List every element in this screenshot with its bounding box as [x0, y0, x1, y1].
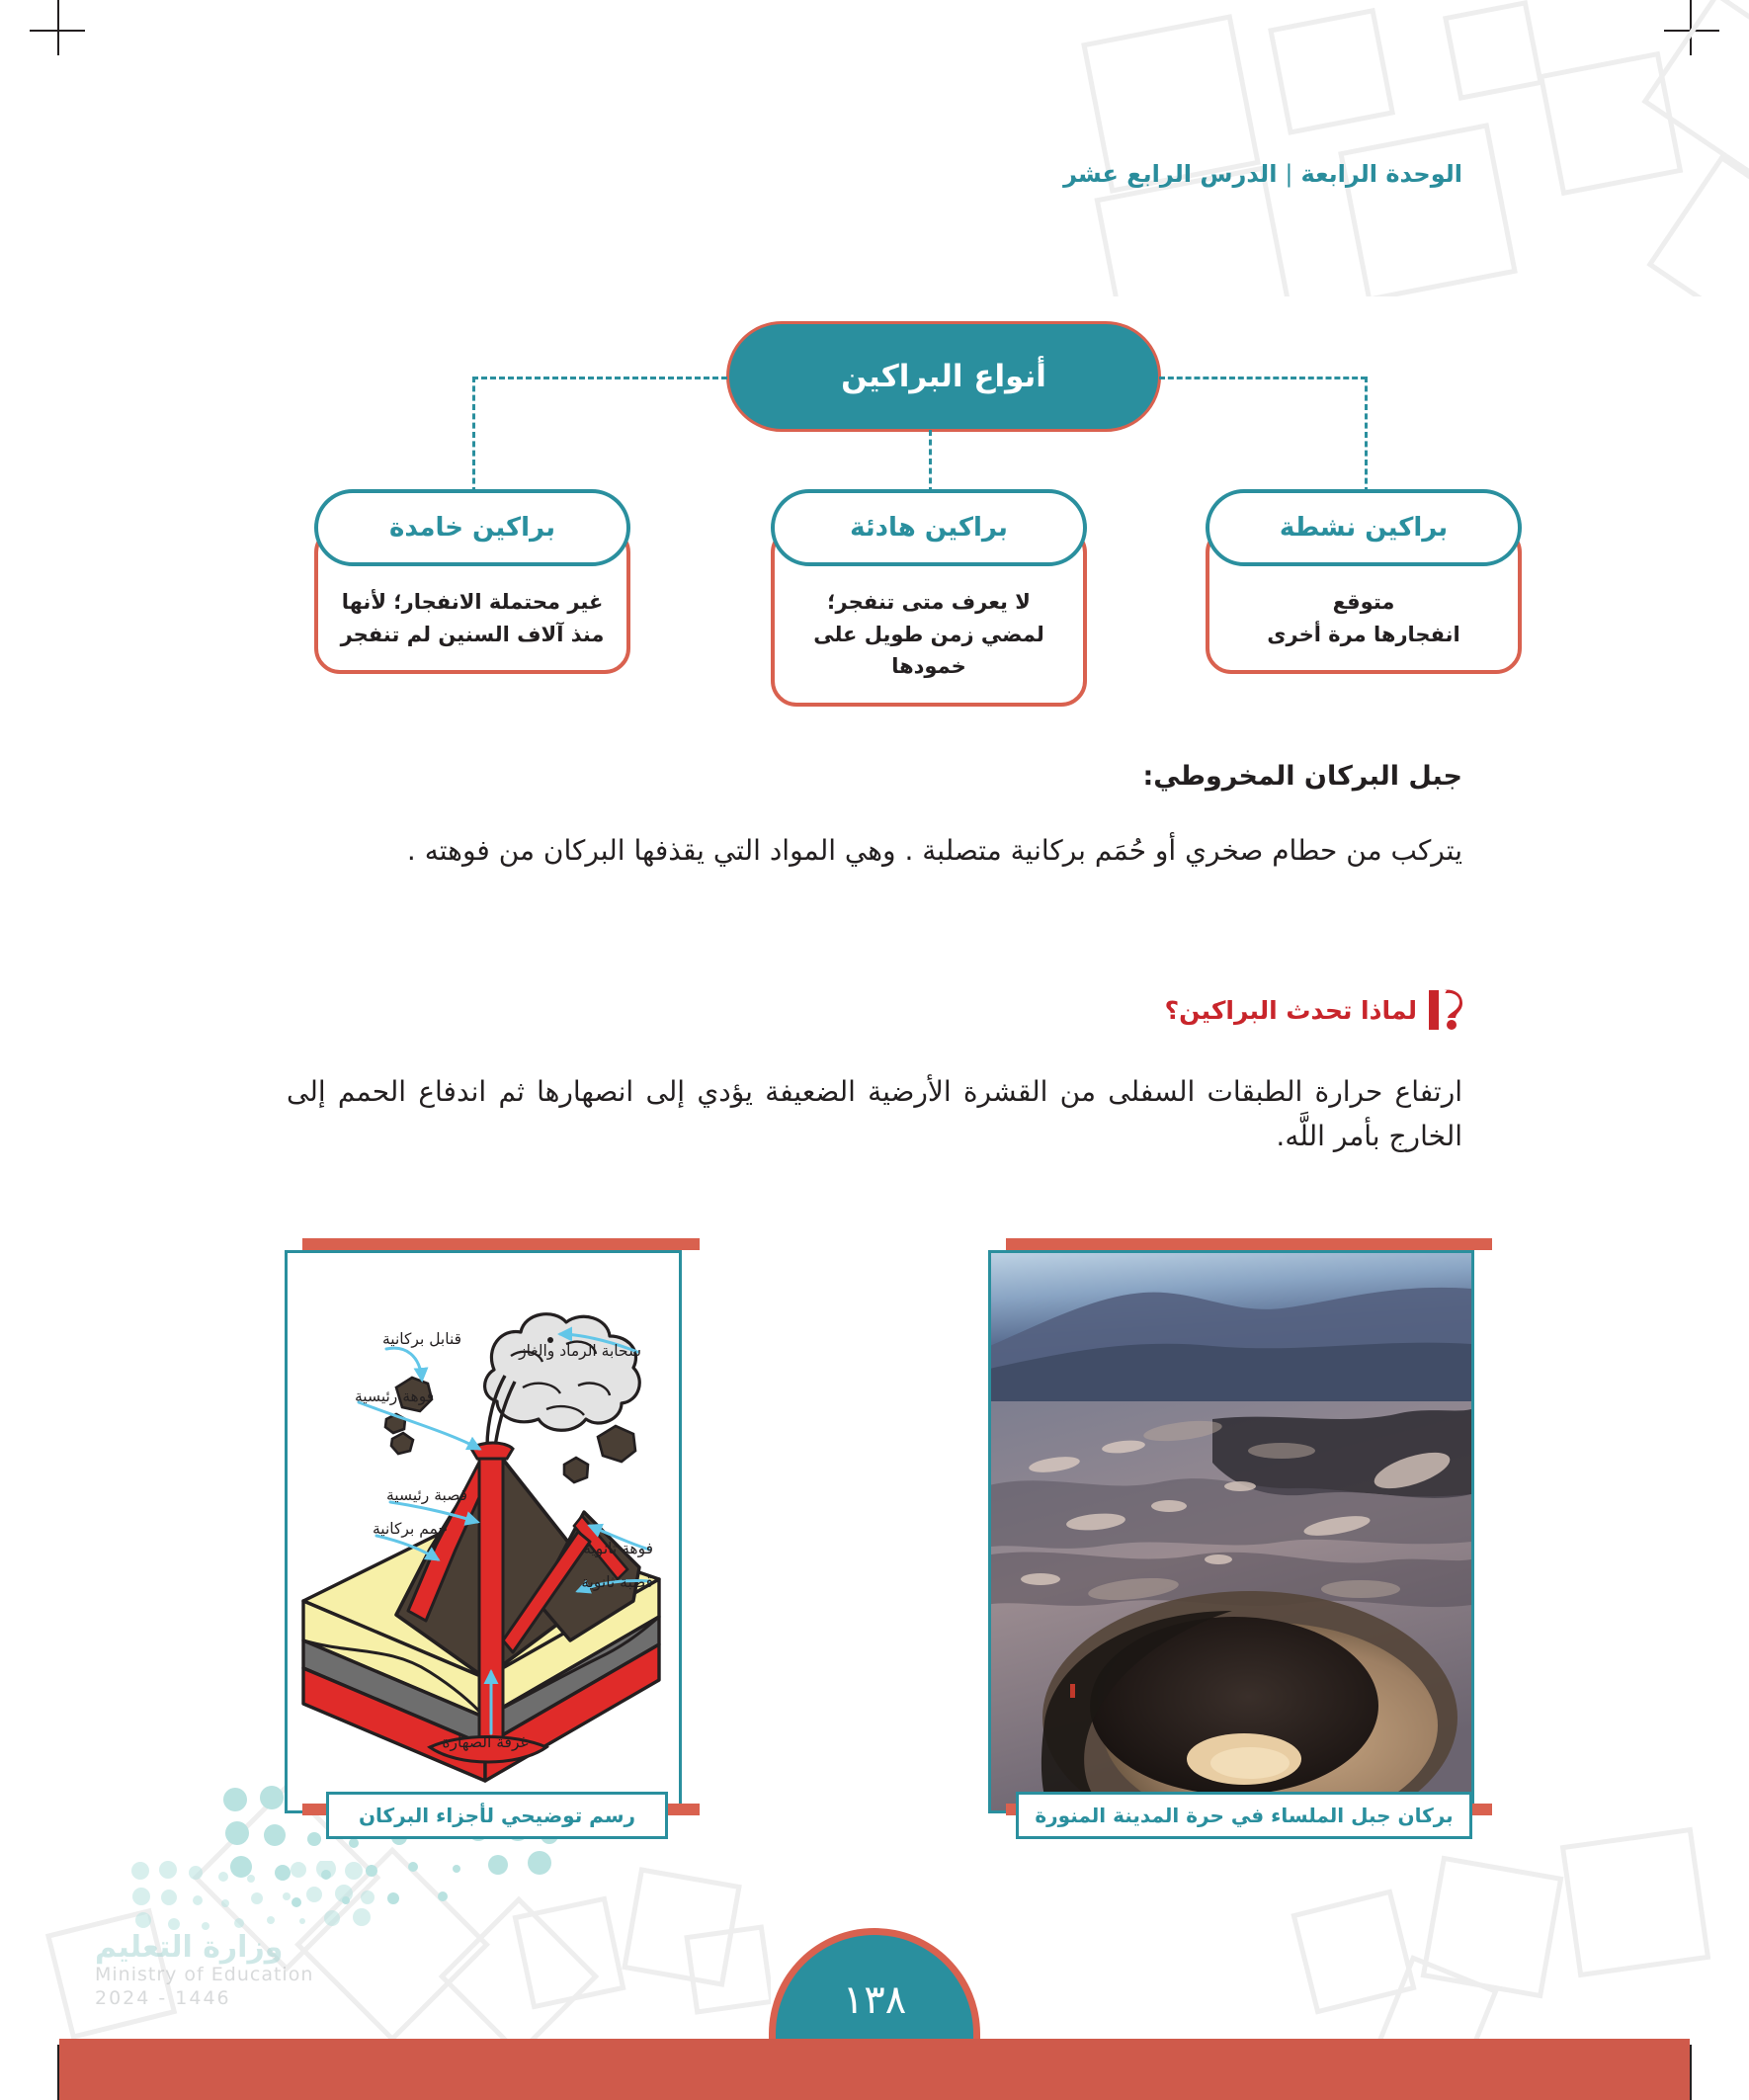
ministry-name-arabic: وزارة التعليم — [95, 1930, 283, 1965]
label-secondary-conduit: قصبة ثانوية — [581, 1573, 653, 1591]
crop-mark — [1690, 2045, 1692, 2100]
figure-frame — [988, 1250, 1474, 1813]
question-mark-icon — [1429, 988, 1462, 1032]
section-heading-why-label: لماذا تحدث البراكين؟ — [1165, 996, 1417, 1025]
section-heading-cone: جبل البركان المخروطي: — [287, 761, 1462, 792]
branch-title-extinct: براكين خامدة — [314, 489, 630, 566]
paragraph-why: ارتفاع حرارة الطبقات السفلى من القشرة ال… — [287, 1069, 1462, 1159]
label-ash-cloud: سحابة الرماد والغاز — [518, 1342, 641, 1361]
crop-mark — [57, 0, 59, 55]
breadcrumb-unit: الوحدة الرابعة — [1301, 160, 1462, 188]
figure-top-accent-bar — [302, 1238, 700, 1250]
connector-right-vertical — [1365, 377, 1368, 493]
flowchart-branch-active: براكين نشطة متوقع انفجارها مرة أخرى — [1206, 489, 1522, 674]
connector-left-vertical — [472, 377, 475, 493]
paragraph-cone-text: يتركب من حطام صخري أو حُمَم بركانية متصل… — [407, 834, 1462, 867]
section-heading-why: لماذا تحدث البراكين؟ — [1165, 988, 1462, 1032]
breadcrumb: الوحدة الرابعة|الدرس الرابع عشر — [1063, 160, 1462, 188]
crop-mark — [30, 30, 85, 32]
paragraph-why-text: ارتفاع حرارة الطبقات السفلى من القشرة ال… — [287, 1075, 1462, 1152]
textbook-page: الوحدة الرابعة|الدرس الرابع عشر أنواع ال… — [0, 0, 1749, 2100]
branch-desc-extinct-label: غير محتملة الانفجار؛ لأنها منذ آلاف السن… — [341, 586, 605, 650]
label-main-conduit: قصبة رئيسية — [386, 1486, 467, 1504]
ministry-name-english: Ministry of Education — [95, 1964, 313, 1985]
figure-top-accent-bar — [1006, 1238, 1492, 1250]
flowchart-branch-quiet: براكين هادئة لا يعرف متى تنفجر؛ لمضي زمن… — [771, 489, 1087, 707]
label-main-crater: فوهة رئيسية — [355, 1387, 434, 1405]
breadcrumb-lesson: الدرس الرابع عشر — [1063, 160, 1277, 188]
connector-middle-vertical — [929, 430, 932, 493]
label-lava: حمم بركانية — [373, 1520, 448, 1538]
figure-frame: قنابل بركانية فوهة رئيسية قصبة رئيسية حم… — [285, 1250, 682, 1813]
breadcrumb-separator: | — [1277, 160, 1300, 188]
branch-desc-active-label: متوقع انفجارها مرة أخرى — [1267, 586, 1459, 650]
volcano-cross-section-illustration: قنابل بركانية فوهة رئيسية قصبة رئيسية حم… — [285, 1253, 679, 1813]
connector-root-to-right — [1159, 377, 1367, 379]
crop-mark — [1664, 30, 1719, 32]
label-secondary-crater: فوهة ثانوية — [583, 1540, 653, 1557]
figure-caption-photo-label: بركان جبل الملساء في حرة المدينة المنورة — [1035, 1804, 1453, 1827]
section-heading-cone-label: جبل البركان المخروطي: — [1142, 761, 1462, 792]
branch-title-extinct-label: براكين خامدة — [389, 513, 555, 543]
flowchart-root-label: أنواع البراكين — [841, 359, 1046, 394]
moe-dots-pattern — [125, 1861, 421, 1930]
branch-title-quiet-label: براكين هادئة — [850, 513, 1008, 543]
branch-title-active: براكين نشطة — [1206, 489, 1522, 566]
page-number-badge: ١٣٨ — [769, 1928, 980, 2039]
volcano-types-flowchart: أنواع البراكين براكين نشطة متوقع انفجاره… — [0, 321, 1749, 716]
footer-accent-bar — [59, 2039, 1690, 2100]
figure-caption-diagram: رسم توضيحي لأجزاء البركان — [326, 1792, 668, 1839]
ministry-of-education-logo: وزارة التعليم Ministry of Education 2024… — [95, 1861, 391, 2009]
connector-root-to-left — [472, 377, 727, 379]
branch-title-quiet: براكين هادئة — [771, 489, 1087, 566]
paragraph-cone: يتركب من حطام صخري أو حُمَم بركانية متصل… — [287, 828, 1462, 873]
page-number-label: ١٣٨ — [843, 1977, 906, 2023]
figure-caption-photo: بركان جبل الملساء في حرة المدينة المنورة — [1016, 1792, 1472, 1839]
figure-caption-diagram-label: رسم توضيحي لأجزاء البركان — [359, 1804, 635, 1827]
ash-cloud-shape — [485, 1314, 640, 1431]
branch-title-active-label: براكين نشطة — [1280, 513, 1448, 543]
flowchart-branch-extinct: براكين خامدة غير محتملة الانفجار؛ لأنها … — [314, 489, 630, 674]
flowchart-root-node: أنواع البراكين — [726, 321, 1161, 432]
figure-volcano-diagram: قنابل بركانية فوهة رئيسية قصبة رئيسية حم… — [285, 1238, 700, 1851]
figure-crater-photo: بركان جبل الملساء في حرة المدينة المنورة — [988, 1238, 1492, 1851]
ministry-year: 2024 - 1446 — [95, 1987, 231, 2009]
decorative-squares-top-right — [1057, 0, 1749, 296]
label-magma-chamber: غرفة الصهارة — [442, 1733, 528, 1752]
crop-mark — [1690, 0, 1692, 55]
aerial-crater-photograph — [988, 1253, 1471, 1813]
branch-desc-quiet-label: لا يعرف متى تنفجر؛ لمضي زمن طويل على خمو… — [813, 586, 1044, 683]
label-volcanic-bombs: قنابل بركانية — [382, 1330, 461, 1348]
